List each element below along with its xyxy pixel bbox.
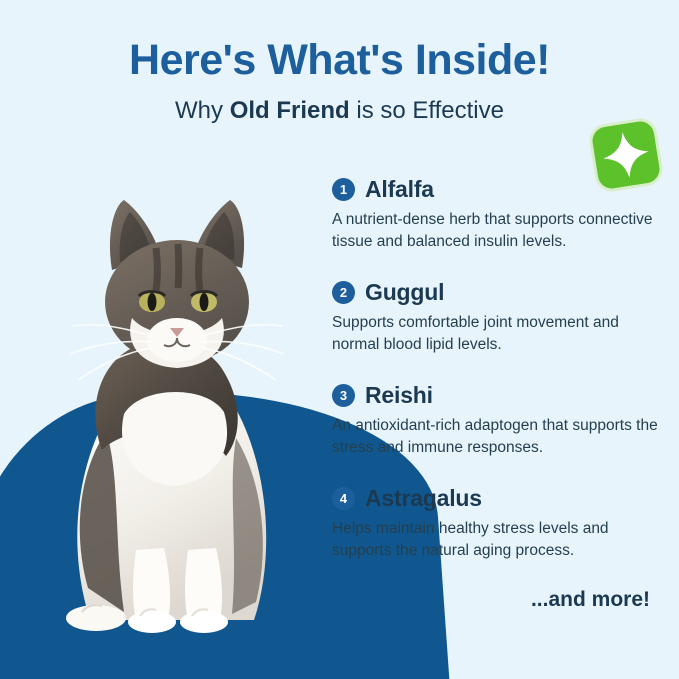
ingredient-heading: 2 Guggul [332,279,662,306]
and-more-text: ...and more! [332,588,662,612]
ingredient-name: Guggul [365,279,444,306]
list-item: 1 Alfalfa A nutrient-dense herb that sup… [332,176,662,253]
cat-photo [28,150,318,640]
brand-name: Old Friend [230,97,350,124]
list-item: 2 Guggul Supports comfortable joint move… [332,279,662,356]
ingredient-heading: 1 Alfalfa [332,176,662,203]
page-subtitle: Why Old Friend is so Effective [0,97,679,125]
ingredient-list: 1 Alfalfa A nutrient-dense herb that sup… [332,176,662,612]
ingredient-name: Alfalfa [365,176,434,203]
ingredient-number-badge: 4 [332,487,355,510]
ingredient-number-badge: 1 [332,178,355,201]
page-title: Here's What's Inside! [0,36,679,85]
ingredient-name: Reishi [365,382,433,409]
ingredient-description: An antioxidant-rich adaptogen that suppo… [332,415,662,459]
subtitle-prefix: Why [175,97,230,124]
list-item: 3 Reishi An antioxidant-rich adaptogen t… [332,382,662,459]
ingredient-description: A nutrient-dense herb that supports conn… [332,209,662,253]
subtitle-suffix: is so Effective [350,97,504,124]
ingredient-number-badge: 3 [332,384,355,407]
ingredient-description: Helps maintain healthy stress levels and… [332,518,662,562]
ingredient-name: Astragalus [365,485,482,512]
infographic-page: Here's What's Inside! Why Old Friend is … [0,0,679,679]
ingredient-heading: 3 Reishi [332,382,662,409]
ingredient-description: Supports comfortable joint movement and … [332,312,662,356]
ingredient-heading: 4 Astragalus [332,485,662,512]
list-item: 4 Astragalus Helps maintain healthy stre… [332,485,662,562]
ingredient-number-badge: 2 [332,281,355,304]
